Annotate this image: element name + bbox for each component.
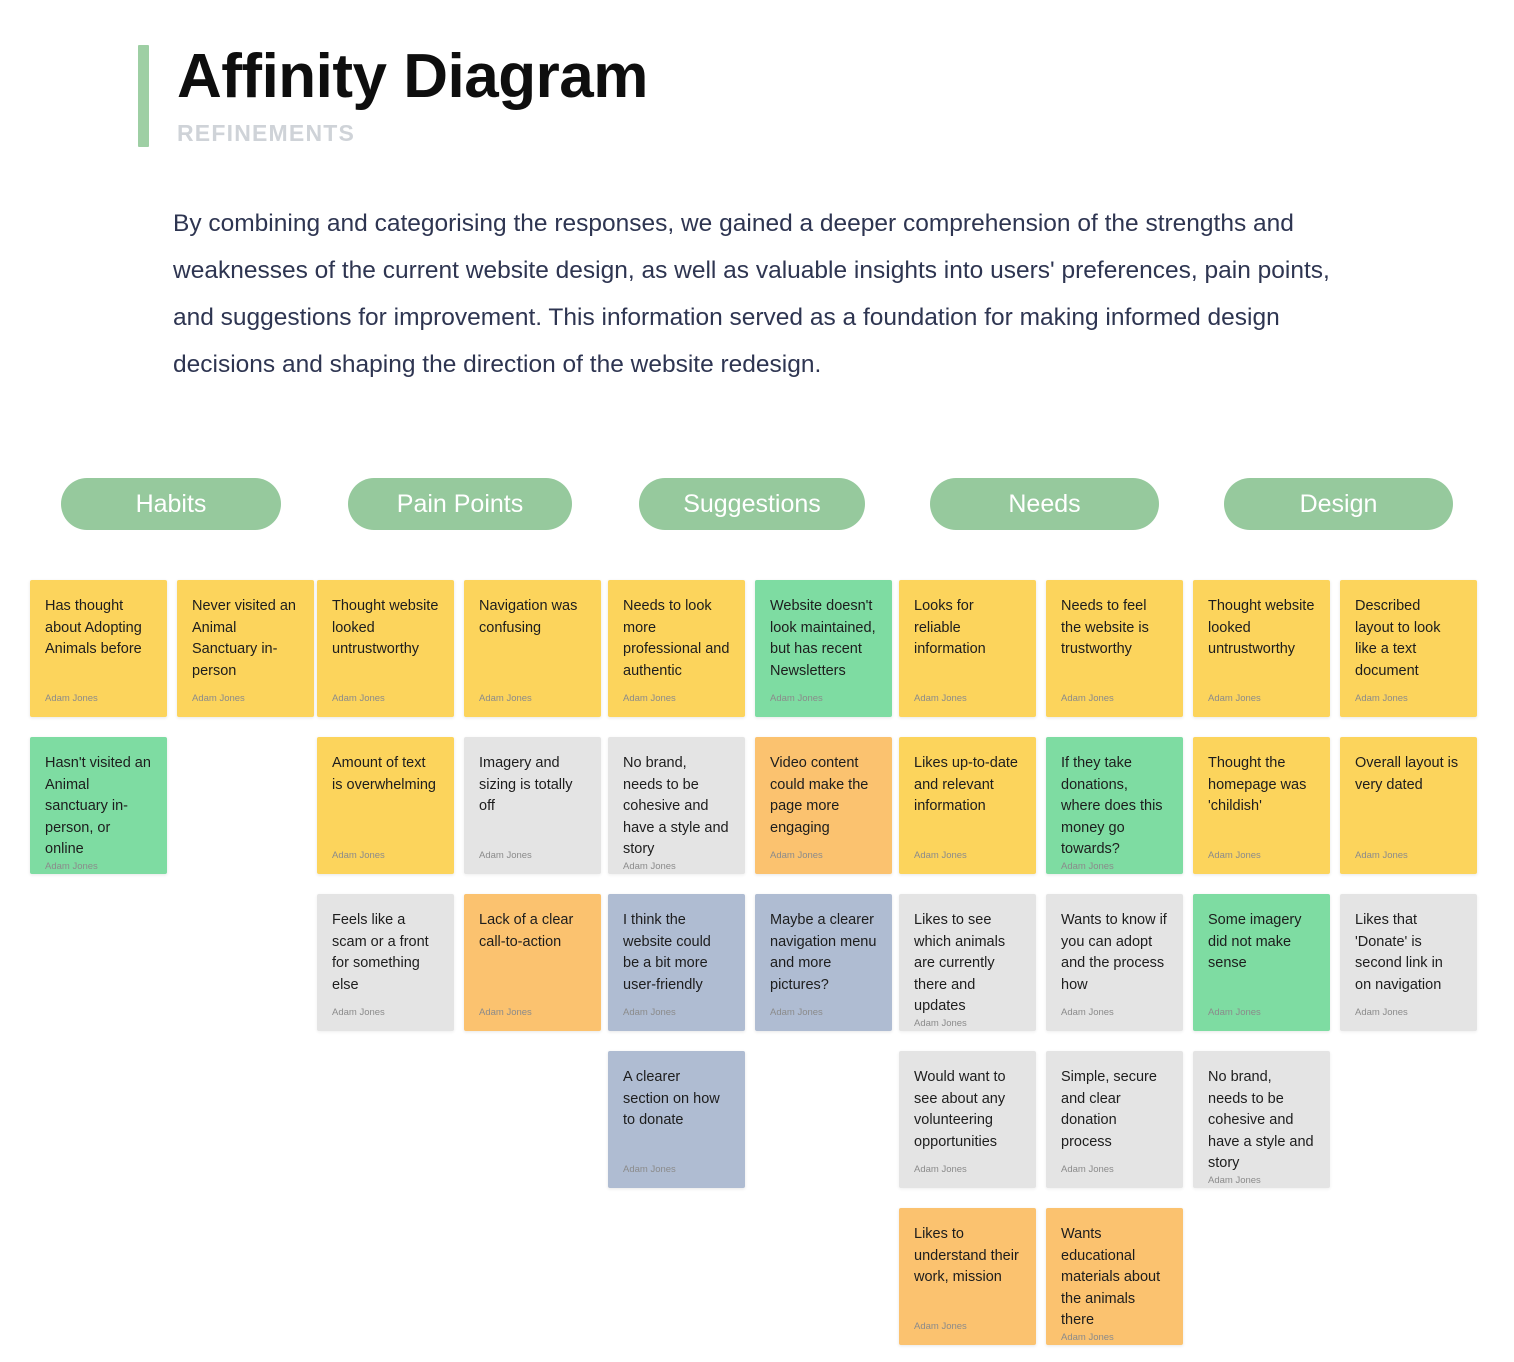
sticky-note-author: Adam Jones xyxy=(1061,1332,1168,1346)
sticky-note-text: Thought the homepage was 'childish' xyxy=(1208,753,1315,818)
sticky-note[interactable]: I think the website could be a bit more … xyxy=(608,894,745,1031)
column-headers: HabitsPain PointsSuggestionsNeedsDesign xyxy=(0,478,1514,540)
sticky-note-text: Needs to feel the website is trustworthy xyxy=(1061,596,1168,661)
sticky-note-text: Some imagery did not make sense xyxy=(1208,910,1315,975)
sticky-note-author: Adam Jones xyxy=(914,1018,1021,1032)
sticky-note-author: Adam Jones xyxy=(332,850,439,864)
column-header-label: Habits xyxy=(136,490,207,519)
sticky-note-text: Described layout to look like a text doc… xyxy=(1355,596,1462,682)
sticky-note-text: Looks for reliable information xyxy=(914,596,1021,661)
sticky-note-text: A clearer section on how to donate xyxy=(623,1067,730,1132)
sticky-note[interactable]: Website doesn't look maintained, but has… xyxy=(755,580,892,717)
column-header-label: Needs xyxy=(1008,490,1080,519)
sticky-note[interactable]: Imagery and sizing is totally offAdam Jo… xyxy=(464,737,601,874)
sticky-note[interactable]: Needs to look more professional and auth… xyxy=(608,580,745,717)
sticky-note-author: Adam Jones xyxy=(1061,861,1168,875)
column-header-habits[interactable]: Habits xyxy=(61,478,281,530)
sticky-note-author: Adam Jones xyxy=(45,693,152,707)
sticky-note-author: Adam Jones xyxy=(332,1007,439,1021)
column-header-label: Design xyxy=(1300,490,1378,519)
sticky-note-author: Adam Jones xyxy=(1355,1007,1462,1021)
sticky-note-author: Adam Jones xyxy=(914,693,1021,707)
intro-paragraph: By combining and categorising the respon… xyxy=(173,200,1373,388)
accent-bar xyxy=(138,45,149,147)
sticky-note[interactable]: Wants to know if you can adopt and the p… xyxy=(1046,894,1183,1031)
sticky-note[interactable]: Likes to understand their work, missionA… xyxy=(899,1208,1036,1345)
title-block: Affinity Diagram REFINEMENTS xyxy=(177,45,648,147)
sticky-note-text: Video content could make the page more e… xyxy=(770,753,877,839)
sticky-note-author: Adam Jones xyxy=(192,693,299,707)
sticky-note-text: Thought website looked untrustworthy xyxy=(332,596,439,661)
sticky-note-author: Adam Jones xyxy=(479,850,586,864)
sticky-note[interactable]: Described layout to look like a text doc… xyxy=(1340,580,1477,717)
sticky-note[interactable]: Feels like a scam or a front for somethi… xyxy=(317,894,454,1031)
sticky-note-text: Never visited an Animal Sanctuary in-per… xyxy=(192,596,299,682)
sticky-note-author: Adam Jones xyxy=(914,1321,1021,1335)
sticky-note-author: Adam Jones xyxy=(479,693,586,707)
sticky-note-text: Likes to see which animals are currently… xyxy=(914,910,1021,1018)
title-row: Affinity Diagram REFINEMENTS xyxy=(138,45,648,147)
sticky-note-author: Adam Jones xyxy=(1061,1007,1168,1021)
sticky-note-text: Thought website looked untrustworthy xyxy=(1208,596,1315,661)
sticky-note-author: Adam Jones xyxy=(332,693,439,707)
sticky-note-author: Adam Jones xyxy=(623,861,730,875)
sticky-note-author: Adam Jones xyxy=(623,1007,730,1021)
sticky-note-text: Likes up-to-date and relevant informatio… xyxy=(914,753,1021,818)
sticky-note[interactable]: Thought website looked untrustworthyAdam… xyxy=(1193,580,1330,717)
column-header-label: Suggestions xyxy=(683,490,821,519)
sticky-note-author: Adam Jones xyxy=(770,693,877,707)
sticky-note[interactable]: A clearer section on how to donateAdam J… xyxy=(608,1051,745,1188)
sticky-note-text: Feels like a scam or a front for somethi… xyxy=(332,910,439,996)
sticky-note-author: Adam Jones xyxy=(770,1007,877,1021)
sticky-note-text: Navigation was confusing xyxy=(479,596,586,639)
notes-grid: Has thought about Adopting Animals befor… xyxy=(0,580,1514,1345)
sticky-note-text: Needs to look more professional and auth… xyxy=(623,596,730,682)
affinity-board: HabitsPain PointsSuggestionsNeedsDesign … xyxy=(0,478,1514,1345)
sticky-note[interactable]: Amount of text is overwhelmingAdam Jones xyxy=(317,737,454,874)
page-header: Affinity Diagram REFINEMENTS xyxy=(138,45,648,147)
sticky-note[interactable]: No brand, needs to be cohesive and have … xyxy=(608,737,745,874)
sticky-note[interactable]: Would want to see about any volunteering… xyxy=(899,1051,1036,1188)
sticky-note-author: Adam Jones xyxy=(914,850,1021,864)
sticky-note-author: Adam Jones xyxy=(1061,693,1168,707)
sticky-note-text: Likes that 'Donate' is second link in on… xyxy=(1355,910,1462,996)
sticky-note-author: Adam Jones xyxy=(1208,850,1315,864)
sticky-note-text: Wants educational materials about the an… xyxy=(1061,1224,1168,1332)
sticky-note-text: Likes to understand their work, mission xyxy=(914,1224,1021,1289)
sticky-note[interactable]: Thought the homepage was 'childish'Adam … xyxy=(1193,737,1330,874)
sticky-note-text: Wants to know if you can adopt and the p… xyxy=(1061,910,1168,996)
sticky-note-text: Maybe a clearer navigation menu and more… xyxy=(770,910,877,996)
sticky-note-text: No brand, needs to be cohesive and have … xyxy=(1208,1067,1315,1175)
column-header-design[interactable]: Design xyxy=(1224,478,1453,530)
page-title: Affinity Diagram xyxy=(177,45,648,108)
sticky-note-author: Adam Jones xyxy=(479,1007,586,1021)
sticky-note-author: Adam Jones xyxy=(1208,1007,1315,1021)
sticky-note[interactable]: Never visited an Animal Sanctuary in-per… xyxy=(177,580,314,717)
sticky-note[interactable]: No brand, needs to be cohesive and have … xyxy=(1193,1051,1330,1188)
sticky-note-text: Simple, secure and clear donation proces… xyxy=(1061,1067,1168,1153)
sticky-note-text: Has thought about Adopting Animals befor… xyxy=(45,596,152,661)
column-header-needs[interactable]: Needs xyxy=(930,478,1159,530)
sticky-note-author: Adam Jones xyxy=(623,693,730,707)
sticky-note-text: No brand, needs to be cohesive and have … xyxy=(623,753,730,861)
sticky-note-text: Amount of text is overwhelming xyxy=(332,753,439,796)
sticky-note-author: Adam Jones xyxy=(1208,693,1315,707)
sticky-note-text: Lack of a clear call-to-action xyxy=(479,910,586,953)
sticky-note[interactable]: Overall layout is very datedAdam Jones xyxy=(1340,737,1477,874)
sticky-note[interactable]: Likes up-to-date and relevant informatio… xyxy=(899,737,1036,874)
affinity-diagram-page: Affinity Diagram REFINEMENTS By combinin… xyxy=(0,0,1514,1362)
sticky-note-author: Adam Jones xyxy=(1355,850,1462,864)
column-header-suggestions[interactable]: Suggestions xyxy=(639,478,865,530)
sticky-note-text: Would want to see about any volunteering… xyxy=(914,1067,1021,1153)
sticky-note[interactable]: Lack of a clear call-to-actionAdam Jones xyxy=(464,894,601,1031)
sticky-note-author: Adam Jones xyxy=(1355,693,1462,707)
sticky-note-text: If they take donations, where does this … xyxy=(1061,753,1168,861)
sticky-note-author: Adam Jones xyxy=(1208,1175,1315,1189)
sticky-note[interactable]: Wants educational materials about the an… xyxy=(1046,1208,1183,1345)
page-subtitle: REFINEMENTS xyxy=(177,120,648,147)
sticky-note-author: Adam Jones xyxy=(1061,1164,1168,1178)
sticky-note[interactable]: Likes to see which animals are currently… xyxy=(899,894,1036,1031)
sticky-note[interactable]: Some imagery did not make senseAdam Jone… xyxy=(1193,894,1330,1031)
sticky-note[interactable]: Hasn't visited an Animal sanctuary in-pe… xyxy=(30,737,167,874)
sticky-note[interactable]: Thought website looked untrustworthyAdam… xyxy=(317,580,454,717)
sticky-note[interactable]: Simple, secure and clear donation proces… xyxy=(1046,1051,1183,1188)
sticky-note[interactable]: Needs to feel the website is trustworthy… xyxy=(1046,580,1183,717)
sticky-note-text: I think the website could be a bit more … xyxy=(623,910,730,996)
sticky-note-author: Adam Jones xyxy=(623,1164,730,1178)
sticky-note[interactable]: Video content could make the page more e… xyxy=(755,737,892,874)
sticky-note[interactable]: Navigation was confusingAdam Jones xyxy=(464,580,601,717)
sticky-note-author: Adam Jones xyxy=(770,850,877,864)
sticky-note-text: Imagery and sizing is totally off xyxy=(479,753,586,818)
sticky-note[interactable]: If they take donations, where does this … xyxy=(1046,737,1183,874)
sticky-note-text: Overall layout is very dated xyxy=(1355,753,1462,796)
column-header-pain-points[interactable]: Pain Points xyxy=(348,478,572,530)
sticky-note-author: Adam Jones xyxy=(45,861,152,875)
sticky-note[interactable]: Has thought about Adopting Animals befor… xyxy=(30,580,167,717)
sticky-note-author: Adam Jones xyxy=(914,1164,1021,1178)
sticky-note-text: Website doesn't look maintained, but has… xyxy=(770,596,877,682)
sticky-note[interactable]: Likes that 'Donate' is second link in on… xyxy=(1340,894,1477,1031)
sticky-note-text: Hasn't visited an Animal sanctuary in-pe… xyxy=(45,753,152,861)
sticky-note[interactable]: Looks for reliable informationAdam Jones xyxy=(899,580,1036,717)
sticky-note[interactable]: Maybe a clearer navigation menu and more… xyxy=(755,894,892,1031)
column-header-label: Pain Points xyxy=(397,490,523,519)
